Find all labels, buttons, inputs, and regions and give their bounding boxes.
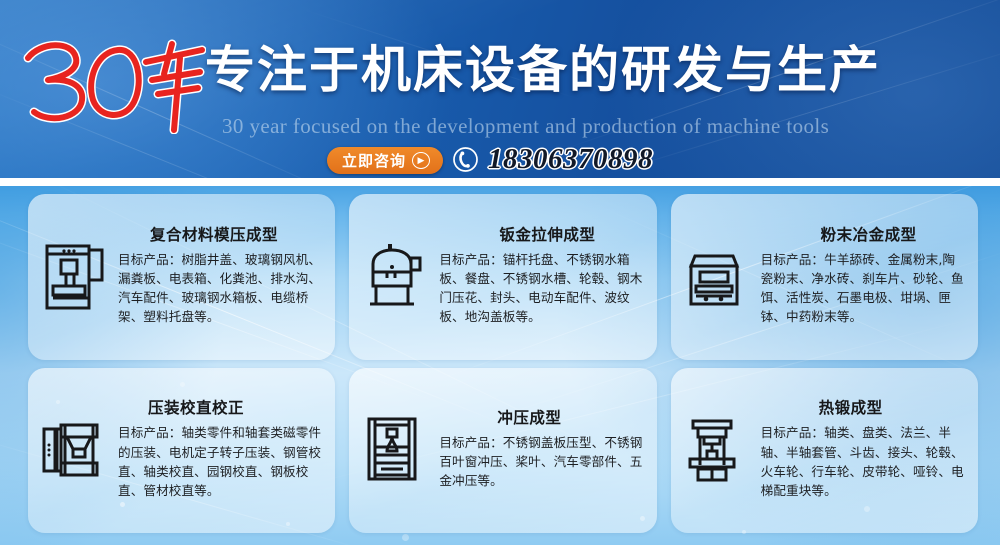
years-badge bbox=[14, 28, 206, 134]
consult-now-button[interactable]: 立即咨询 ▶ bbox=[327, 147, 443, 174]
card-description: 目标产品：轴类零件和轴套类磁零件的压装、电机定子转子压装、钢管校直、轴类校直、园… bbox=[118, 423, 321, 500]
card-title: 粉末冶金成型 bbox=[763, 227, 964, 244]
banner-header: 专注于机床设备的研发与生产 30 year focused on the dev… bbox=[0, 0, 1000, 186]
card-composite-molding[interactable]: 复合材料模压成型 目标产品：树脂井盖、玻璃钢风机、漏粪板、电表箱、化粪池、排水沟… bbox=[28, 194, 335, 360]
card-text: 复合材料模压成型 目标产品：树脂井盖、玻璃钢风机、漏粪板、电表箱、化粪池、排水沟… bbox=[118, 227, 321, 327]
phone-circle-icon bbox=[452, 146, 479, 173]
headline: 专注于机床设备的研发与生产 bbox=[205, 42, 881, 98]
card-powder-metallurgy[interactable]: 粉末冶金成型 目标产品：牛羊舔砖、金属粉末,陶瓷粉末、净水砖、刹车片、砂轮、鱼饵… bbox=[671, 194, 978, 360]
stamping-press-icon bbox=[359, 409, 433, 491]
card-hot-forging[interactable]: 热锻成型 目标产品：轴类、盘类、法兰、半轴、半轴套管、斗齿、接头、轮毂、火车轮、… bbox=[671, 368, 978, 534]
card-text: 粉末冶金成型 目标产品：牛羊舔砖、金属粉末,陶瓷粉末、净水砖、刹车片、砂轮、鱼饵… bbox=[761, 227, 964, 327]
sheet-metal-drawing-press-icon bbox=[359, 236, 433, 318]
card-text: 冲压成型 目标产品：不锈钢盖板压型、不锈钢百叶窗冲压、桨叶、汽车零部件、五金冲压… bbox=[439, 410, 642, 490]
phone-contact[interactable]: 18306370898 bbox=[452, 143, 653, 176]
consult-now-label: 立即咨询 bbox=[342, 150, 406, 171]
press-fit-straightening-icon bbox=[38, 409, 112, 491]
phone-number: 18306370898 bbox=[488, 143, 653, 176]
card-title: 冲压成型 bbox=[439, 410, 642, 427]
header-divider bbox=[0, 178, 1000, 186]
chevron-right-icon: ▶ bbox=[412, 152, 430, 169]
card-text: 热锻成型 目标产品：轴类、盘类、法兰、半轴、半轴套管、斗齿、接头、轮毂、火车轮、… bbox=[761, 400, 964, 500]
card-sheet-metal-drawing[interactable]: 钣金拉伸成型 目标产品：锚杆托盘、不锈钢水箱板、餐盘、不锈钢水槽、轮毂、钢木门压… bbox=[349, 194, 656, 360]
card-title: 复合材料模压成型 bbox=[120, 227, 321, 244]
card-text: 钣金拉伸成型 目标产品：锚杆托盘、不锈钢水箱板、餐盘、不锈钢水槽、轮毂、钢木门压… bbox=[439, 227, 642, 327]
card-title: 热锻成型 bbox=[761, 400, 964, 417]
card-stamping[interactable]: 冲压成型 目标产品：不锈钢盖板压型、不锈钢百叶窗冲压、桨叶、汽车零部件、五金冲压… bbox=[349, 368, 656, 534]
card-title: 钣金拉伸成型 bbox=[441, 227, 642, 244]
card-description: 目标产品：不锈钢盖板压型、不锈钢百叶窗冲压、桨叶、汽车零部件、五金冲压等。 bbox=[439, 433, 642, 490]
card-description: 目标产品：牛羊舔砖、金属粉末,陶瓷粉末、净水砖、刹车片、砂轮、鱼饵、活性炭、石墨… bbox=[761, 250, 964, 327]
compression-molding-press-icon bbox=[38, 236, 112, 318]
card-description: 目标产品：树脂井盖、玻璃钢风机、漏粪板、电表箱、化粪池、排水沟、汽车配件、玻璃钢… bbox=[118, 250, 321, 327]
subheadline-english: 30 year focused on the development and p… bbox=[222, 114, 829, 139]
banner-body: 复合材料模压成型 目标产品：树脂井盖、玻璃钢风机、漏粪板、电表箱、化粪池、排水沟… bbox=[0, 186, 1000, 545]
card-title: 压装校直校正 bbox=[118, 400, 321, 417]
card-description: 目标产品：轴类、盘类、法兰、半轴、半轴套管、斗齿、接头、轮毂、火车轮、行车轮、皮… bbox=[761, 423, 964, 500]
card-text: 压装校直校正 目标产品：轴类零件和轴套类磁零件的压装、电机定子转子压装、钢管校直… bbox=[118, 400, 321, 500]
promo-banner: 专注于机床设备的研发与生产 30 year focused on the dev… bbox=[0, 0, 1000, 545]
category-card-grid: 复合材料模压成型 目标产品：树脂井盖、玻璃钢风机、漏粪板、电表箱、化粪池、排水沟… bbox=[0, 186, 1000, 545]
card-description: 目标产品：锚杆托盘、不锈钢水箱板、餐盘、不锈钢水槽、轮毂、钢木门压花、封头、电动… bbox=[439, 250, 642, 327]
card-press-fit-straightening[interactable]: 压装校直校正 目标产品：轴类零件和轴套类磁零件的压装、电机定子转子压装、钢管校直… bbox=[28, 368, 335, 534]
hot-forging-press-icon bbox=[681, 409, 755, 491]
powder-metallurgy-press-icon bbox=[681, 236, 755, 318]
